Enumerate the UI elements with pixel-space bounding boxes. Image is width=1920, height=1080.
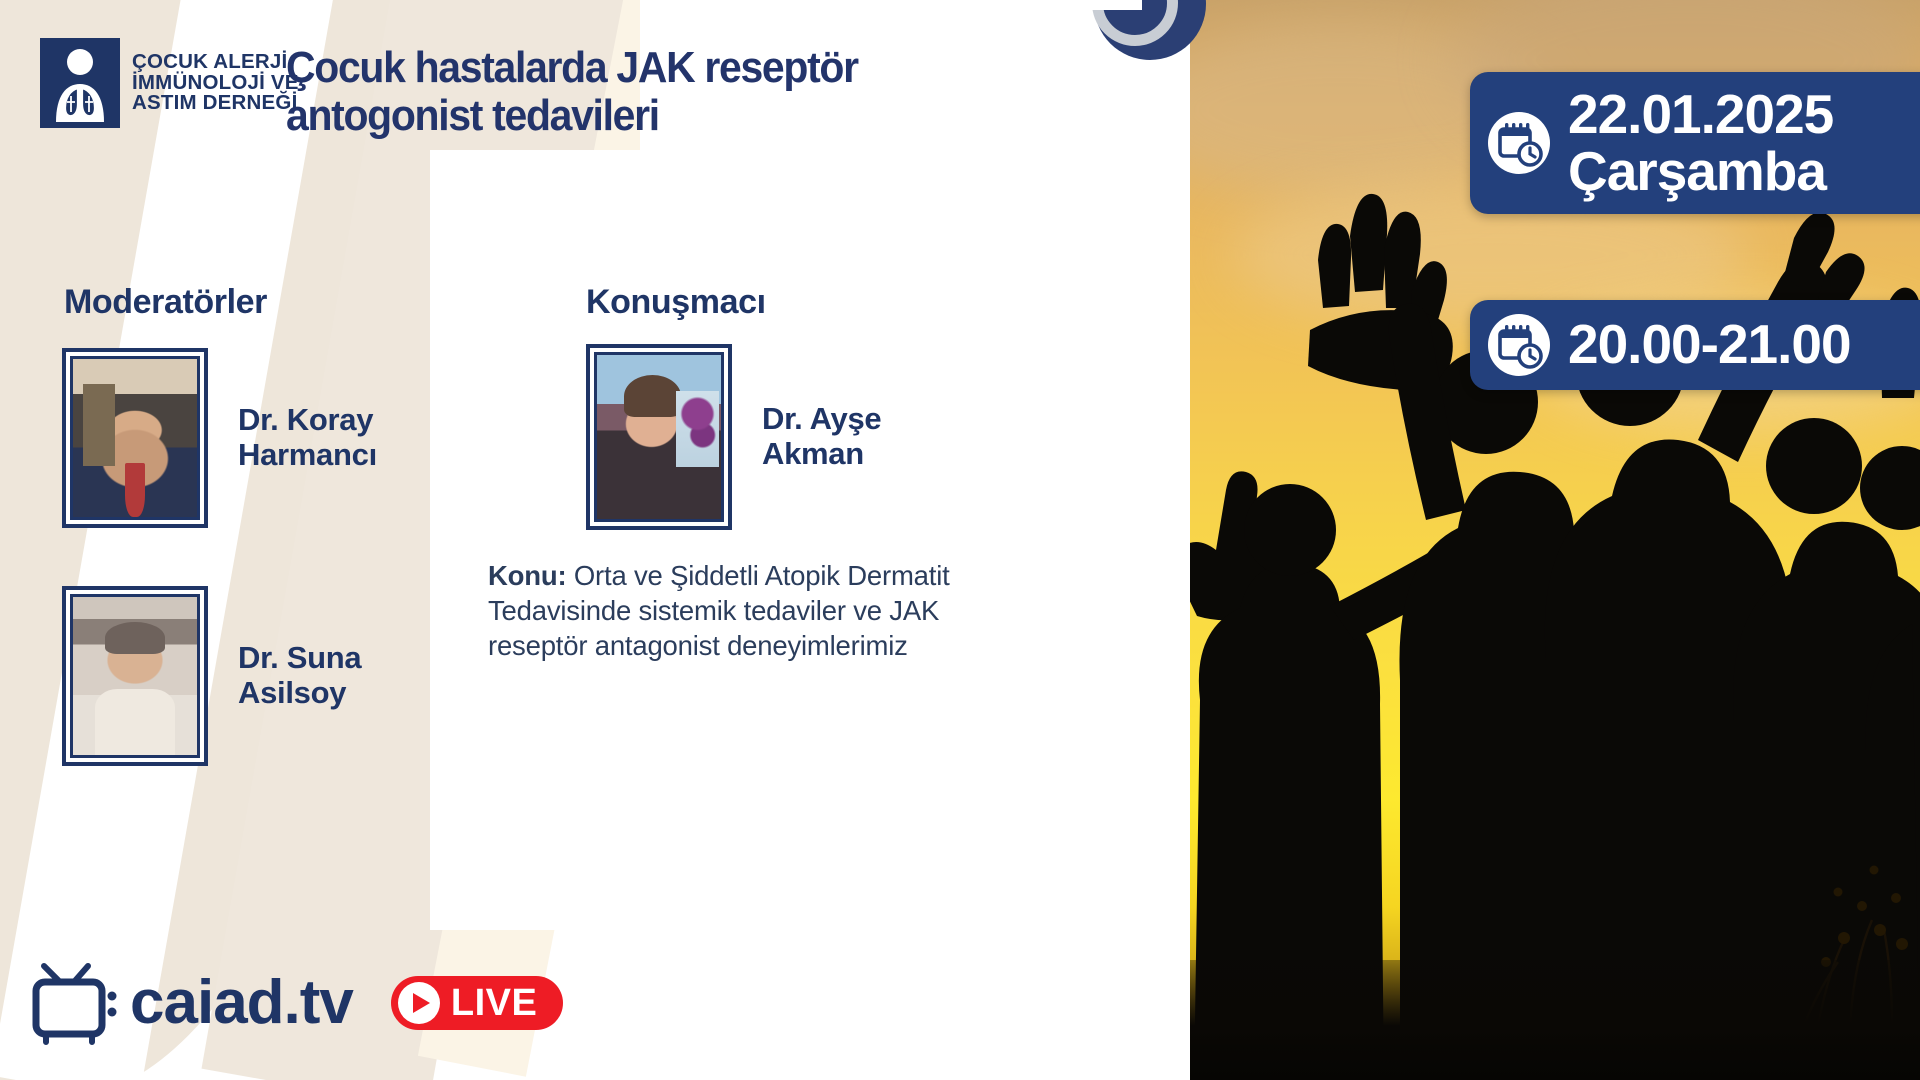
- moderators-heading: Moderatörler: [64, 283, 267, 322]
- live-label: LIVE: [451, 984, 537, 1022]
- portrait-suna-asilsoy: [70, 594, 200, 758]
- moderator-item: Dr. Koray Harmancı: [62, 348, 377, 528]
- date-badge: 22.01.2025 Çarşamba: [1470, 72, 1920, 214]
- calendar-clock-icon: [1488, 112, 1550, 174]
- brand-footer: caiad.tv LIVE: [30, 960, 563, 1046]
- live-badge[interactable]: LIVE: [391, 976, 563, 1030]
- time-badge-text: 20.00-21.00: [1568, 316, 1851, 373]
- org-name-line-3: ASTIM DERNEĞİ: [132, 93, 299, 114]
- event-date: 22.01.2025: [1568, 86, 1833, 143]
- topic-description: Konu: Orta ve Şiddetli Atopik Dermatit T…: [488, 558, 988, 664]
- topic-label: Konu:: [488, 560, 566, 591]
- speaker-photo-frame: [586, 344, 732, 530]
- date-badge-text: 22.01.2025 Çarşamba: [1568, 86, 1833, 200]
- left-content-panel: [0, 0, 1190, 1080]
- speaker-item: Dr. Ayşe Akman: [586, 344, 881, 530]
- calendar-clock-icon: [1488, 314, 1550, 376]
- ground-shadow: [1190, 960, 1920, 1080]
- moderator-photo-frame: [62, 586, 208, 766]
- event-time: 20.00-21.00: [1568, 316, 1851, 373]
- lungs-torso-icon: [40, 38, 120, 128]
- play-icon[interactable]: [398, 982, 440, 1024]
- moderator-name: Dr. Koray Harmancı: [238, 403, 377, 472]
- organization-logo: ÇOCUK ALERJİ İMMÜNOLOJİ VE ASTIM DERNEĞİ: [40, 38, 299, 128]
- organization-name: ÇOCUK ALERJİ İMMÜNOLOJİ VE ASTIM DERNEĞİ: [132, 52, 299, 115]
- org-name-line-1: ÇOCUK ALERJİ: [132, 52, 299, 73]
- decorative-ring-mask: [1092, 0, 1142, 10]
- television-icon: [30, 960, 126, 1046]
- portrait-ayse-akman: [594, 352, 724, 522]
- time-badge: 20.00-21.00: [1470, 300, 1920, 390]
- moderator-item: Dr. Suna Asilsoy: [62, 586, 361, 766]
- moderator-photo-frame: [62, 348, 208, 528]
- portrait-koray-harmanci: [70, 356, 200, 520]
- brand-name[interactable]: caiad.tv: [130, 972, 353, 1034]
- moderator-name: Dr. Suna Asilsoy: [238, 641, 361, 710]
- speaker-name: Dr. Ayşe Akman: [762, 402, 881, 471]
- speaker-heading: Konuşmacı: [586, 283, 766, 322]
- page-title: Çocuk hastalarda JAK reseptör antogonist…: [286, 44, 937, 139]
- webinar-poster: ÇOCUK ALERJİ İMMÜNOLOJİ VE ASTIM DERNEĞİ…: [0, 0, 1920, 1080]
- background-white-cover-2: [430, 150, 850, 930]
- event-weekday: Çarşamba: [1568, 143, 1833, 200]
